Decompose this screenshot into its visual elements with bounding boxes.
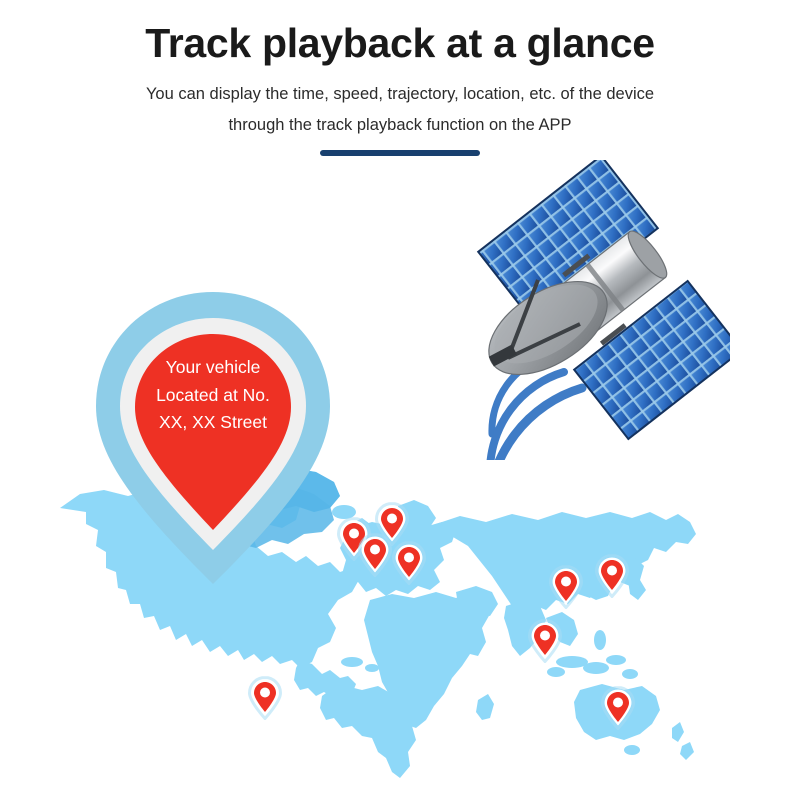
marker-europe-4[interactable] [392,541,426,585]
header: Track playback at a glance You can displ… [0,0,800,156]
marker-east-asia-2[interactable] [595,554,629,598]
marker-south-america[interactable] [248,676,282,720]
promo-banner: Track playback at a glance You can displ… [0,0,800,800]
subtitle-line-2: through the track playback function on t… [0,110,800,141]
marker-europe-3[interactable] [358,533,392,577]
marker-southeast-asia[interactable] [528,619,562,663]
subtitle-block: You can display the time, speed, traject… [0,79,800,142]
page-title: Track playback at a glance [0,20,800,67]
your-vehicle-location-pin: Your vehicle Located at No. XX, XX Stree… [88,288,338,588]
marker-east-asia-1[interactable] [549,565,583,609]
title-underline [320,150,480,156]
gps-satellite [420,160,730,460]
marker-australia[interactable] [601,686,635,730]
subtitle-line-1: You can display the time, speed, traject… [0,79,800,110]
